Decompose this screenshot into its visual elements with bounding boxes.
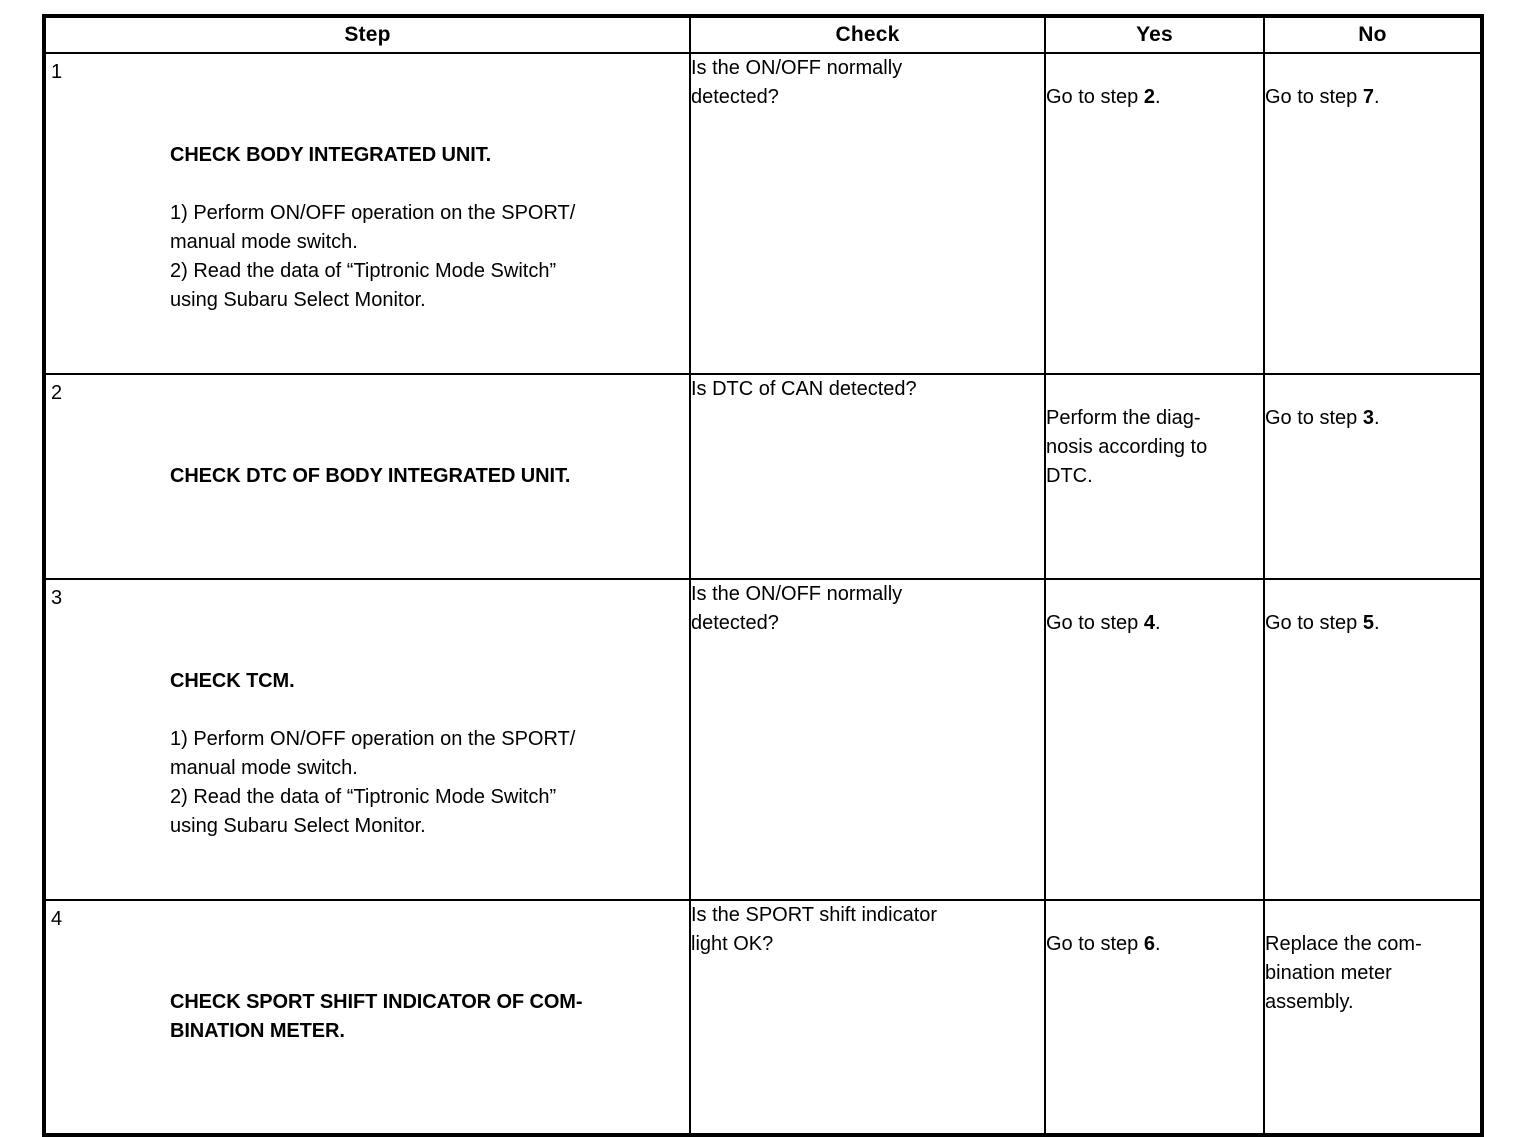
column-header-no-label: No [1265, 18, 1480, 52]
yes-answer-text: Perform the diag- nosis according to DTC… [1046, 407, 1207, 487]
check-cell: Is the ON/OFF normally detected? [690, 53, 1045, 374]
no-cell: Replace the com- bination meter assembly… [1264, 900, 1482, 1135]
table-row: 2 CHECK DTC OF BODY INTEGRATED UNIT. Is … [44, 374, 1482, 579]
yes-answer-suffix: . [1155, 933, 1161, 955]
no-answer: Go to step 5. [1265, 612, 1380, 634]
column-header-yes-label: Yes [1046, 18, 1263, 52]
no-answer: Replace the com- bination meter assembly… [1265, 933, 1422, 1013]
table-row: 3 CHECK TCM. 1) Perform ON/OFF operation… [44, 579, 1482, 900]
column-header-check: Check [690, 16, 1045, 53]
yes-answer-suffix: . [1155, 612, 1161, 634]
yes-cell: Perform the diag- nosis according to DTC… [1045, 374, 1264, 579]
yes-answer: Perform the diag- nosis according to DTC… [1046, 407, 1207, 487]
step-number: 1 [51, 58, 62, 87]
no-answer-text: Go to step [1265, 612, 1363, 634]
step-body: CHECK BODY INTEGRATED UNIT. 1) Perform O… [170, 112, 689, 344]
no-answer-text: Replace the com- bination meter assembly… [1265, 933, 1422, 1013]
column-header-check-label: Check [691, 18, 1044, 52]
yes-answer-text: Go to step [1046, 612, 1144, 634]
yes-answer: Go to step 4. [1046, 612, 1161, 634]
no-answer-step-number: 3 [1363, 407, 1374, 429]
step-number: 4 [51, 905, 62, 934]
no-answer-text: Go to step [1265, 86, 1363, 108]
step-number: 2 [51, 379, 62, 408]
column-header-step: Step [44, 16, 690, 53]
check-cell: Is DTC of CAN detected? [690, 374, 1045, 579]
yes-answer-step-number: 6 [1144, 933, 1155, 955]
column-header-no: No [1264, 16, 1482, 53]
step-title: CHECK TCM. [170, 667, 689, 696]
step-cell: 2 CHECK DTC OF BODY INTEGRATED UNIT. [44, 374, 690, 579]
column-header-yes: Yes [1045, 16, 1264, 53]
step-cell: 3 CHECK TCM. 1) Perform ON/OFF operation… [44, 579, 690, 900]
yes-answer-suffix: . [1155, 86, 1161, 108]
table-row: 1 CHECK BODY INTEGRATED UNIT. 1) Perform… [44, 53, 1482, 374]
yes-answer: Go to step 2. [1046, 86, 1161, 108]
check-cell: Is the SPORT shift indicator light OK? [690, 900, 1045, 1135]
yes-cell: Go to step 2. [1045, 53, 1264, 374]
table-row: 4 CHECK SPORT SHIFT INDICATOR OF COM- BI… [44, 900, 1482, 1135]
step-title: CHECK BODY INTEGRATED UNIT. [170, 141, 689, 170]
no-answer-step-number: 5 [1363, 612, 1374, 634]
no-cell: Go to step 5. [1264, 579, 1482, 900]
diagnostic-procedure-table: Step Check Yes No 1 CHECK BODY IN [42, 14, 1484, 1137]
yes-cell: Go to step 6. [1045, 900, 1264, 1135]
document-page: Step Check Yes No 1 CHECK BODY IN [0, 0, 1536, 660]
no-cell: Go to step 7. [1264, 53, 1482, 374]
yes-answer-text: Go to step [1046, 933, 1144, 955]
step-substeps: 1) Perform ON/OFF operation on the SPORT… [170, 725, 689, 841]
step-title: CHECK DTC OF BODY INTEGRATED UNIT. [170, 462, 689, 491]
yes-answer-text: Go to step [1046, 86, 1144, 108]
step-cell: 1 CHECK BODY INTEGRATED UNIT. 1) Perform… [44, 53, 690, 374]
no-answer: Go to step 7. [1265, 86, 1380, 108]
yes-answer-step-number: 2 [1144, 86, 1155, 108]
step-cell: 4 CHECK SPORT SHIFT INDICATOR OF COM- BI… [44, 900, 690, 1135]
step-body: CHECK TCM. 1) Perform ON/OFF operation o… [170, 638, 689, 870]
step-body: CHECK DTC OF BODY INTEGRATED UNIT. [170, 433, 689, 549]
no-answer-suffix: . [1374, 86, 1380, 108]
check-cell: Is the ON/OFF normally detected? [690, 579, 1045, 900]
step-body: CHECK SPORT SHIFT INDICATOR OF COM- BINA… [170, 959, 689, 1104]
yes-cell: Go to step 4. [1045, 579, 1264, 900]
column-header-step-label: Step [46, 18, 689, 52]
no-cell: Go to step 3. [1264, 374, 1482, 579]
step-substeps: 1) Perform ON/OFF operation on the SPORT… [170, 199, 689, 315]
no-answer-step-number: 7 [1363, 86, 1374, 108]
table-header-row: Step Check Yes No [44, 16, 1482, 53]
no-answer-text: Go to step [1265, 407, 1363, 429]
no-answer: Go to step 3. [1265, 407, 1380, 429]
no-answer-suffix: . [1374, 612, 1380, 634]
yes-answer: Go to step 6. [1046, 933, 1161, 955]
yes-answer-step-number: 4 [1144, 612, 1155, 634]
step-title: CHECK SPORT SHIFT INDICATOR OF COM- BINA… [170, 988, 689, 1046]
step-number: 3 [51, 584, 62, 613]
no-answer-suffix: . [1374, 407, 1380, 429]
